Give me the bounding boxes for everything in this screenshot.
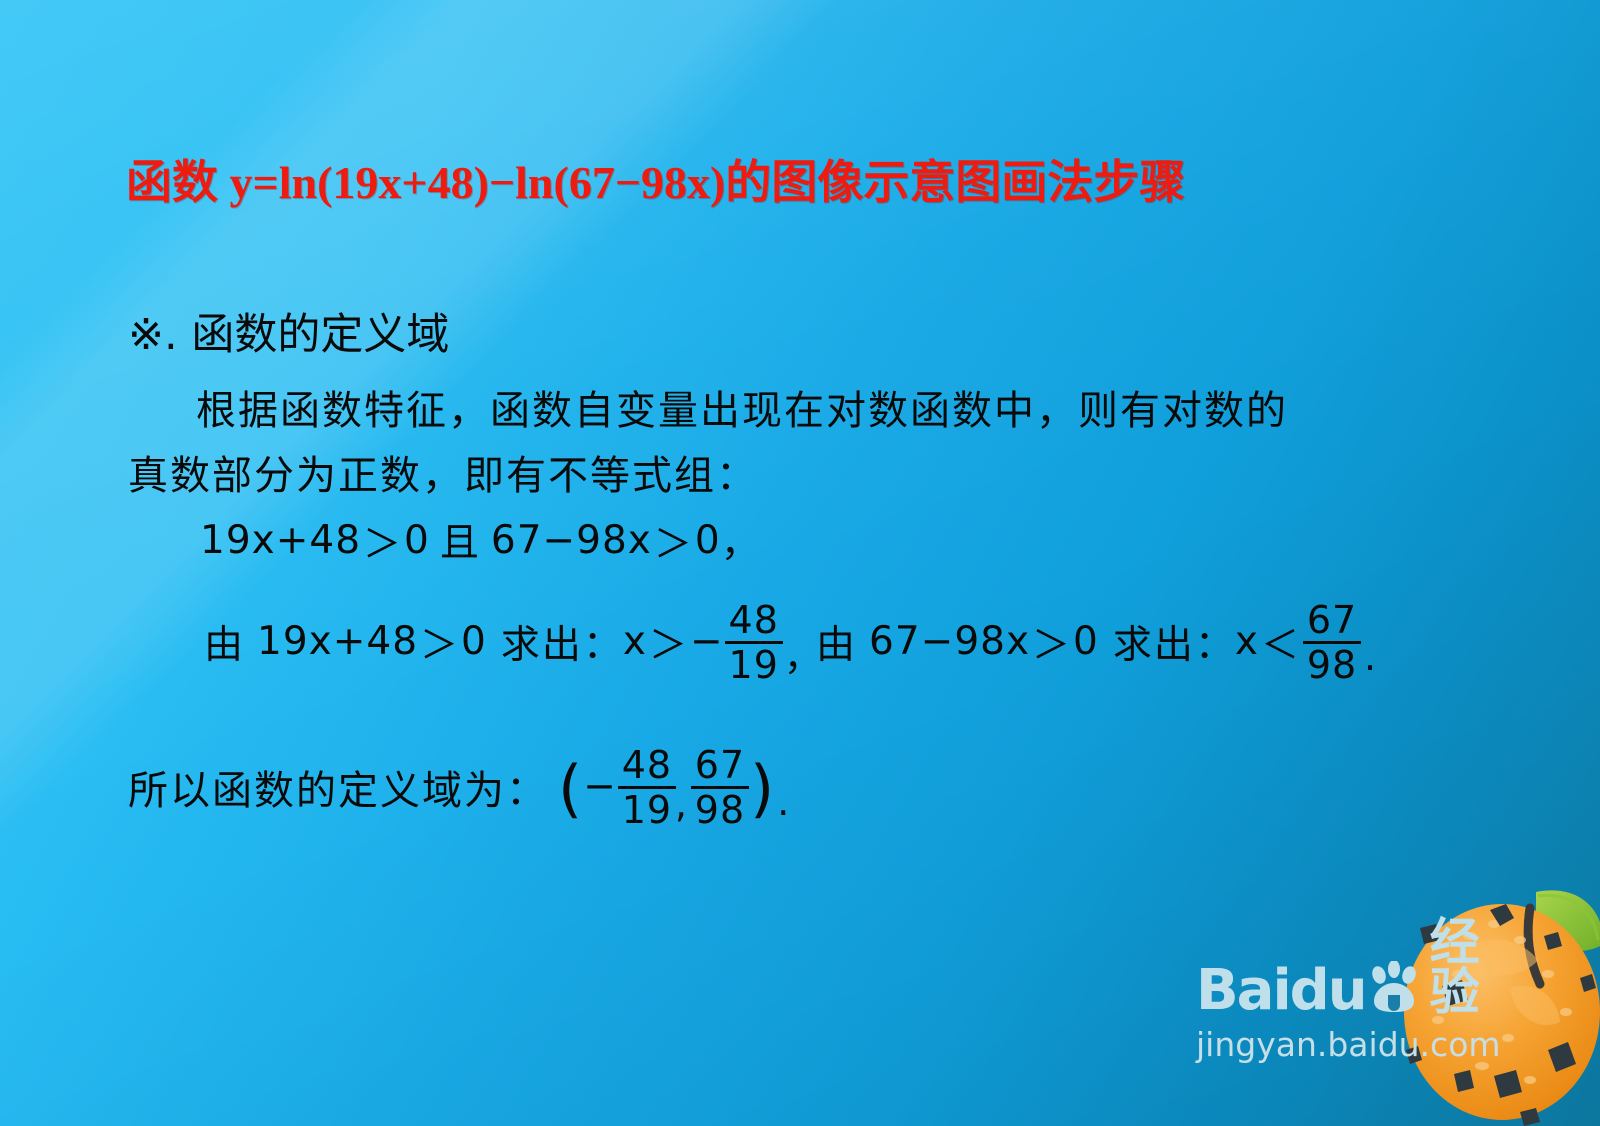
math3-verb: 求出 (1099, 614, 1195, 670)
math2-gt: ＞ (418, 614, 461, 669)
math4-colon: ： (506, 758, 548, 816)
math-line-domain-conclusion: 所以函数的定义域为 ： ( − 48 19 , 67 98 ) . (128, 745, 788, 828)
math-line-solve-first: 由 19x+48 ＞ 0 求出 ： x ＞ − 48 19 ， (204, 600, 824, 683)
math4-open-paren: ( (558, 764, 583, 814)
math3-var: x (1235, 619, 1259, 664)
baidu-watermark: Baidu 经验 jingyan.baidu.com (1196, 955, 1496, 1075)
baidu-watermark-url: jingyan.baidu.com (1196, 1025, 1496, 1064)
paw-print-icon (1368, 961, 1422, 1015)
math4-interval: ( − 48 19 , 67 98 ) . (548, 745, 788, 828)
math1-zero-a: 0 (404, 518, 430, 563)
math1-expr-b: 67−98x (491, 518, 652, 563)
math1-conjunction: 且 (430, 512, 491, 568)
math2-relation: ＞ (647, 614, 690, 669)
math2-fraction-denominator: 19 (726, 644, 782, 684)
math2-var: x (623, 619, 647, 664)
math3-gt: ＞ (1030, 614, 1073, 669)
math3-expr: 67−98x (857, 619, 1030, 664)
math2-verb: 求出 (487, 614, 583, 670)
math4-close-paren: ) (750, 764, 775, 814)
math4-fraction-upper-numerator: 67 (692, 746, 748, 786)
baidu-logo: Baidu 经验 (1196, 955, 1496, 1017)
math3-fraction-numerator: 67 (1304, 601, 1360, 641)
math4-trailing-period: . (777, 780, 790, 824)
math1-zero-b: 0 (695, 518, 721, 563)
math4-negative-sign: − (583, 764, 617, 809)
math3-colon: ： (1195, 614, 1235, 670)
math-line-inequalities: 19x+48 ＞ 0 且 67−98x ＞ 0 ， (200, 512, 762, 568)
math4-fraction-upper-denominator: 98 (692, 789, 748, 829)
paragraph-line-1: 根据函数特征，函数自变量出现在对数函数中，则有对数的 (196, 378, 1288, 436)
math3-trailing-period: . (1364, 635, 1377, 679)
baidu-jingyan-label: 经验 (1430, 917, 1496, 1017)
paragraph-line-2: 真数部分为正数，即有不等式组： (128, 443, 758, 501)
page-title: 函数 y=ln(19x+48)−ln(67−98x)的图像示意图画法步骤 (126, 146, 1185, 212)
math3-relation: ＜ (1259, 614, 1302, 669)
math4-fraction-lower-denominator: 19 (619, 789, 675, 829)
math4-interval-comma: , (675, 782, 688, 826)
math3-fraction: 67 98 (1303, 601, 1361, 684)
math4-fraction-lower: 48 19 (618, 746, 676, 829)
math-line-solve-second: 由 67−98x ＞ 0 求出 ： x ＜ 67 98 . (816, 600, 1375, 683)
math1-gt-2: ＞ (652, 513, 695, 568)
math4-fraction-upper: 67 98 (691, 746, 749, 829)
persimmon-fruit-illustration (1398, 862, 1600, 1126)
presentation-slide: 函数 y=ln(19x+48)−ln(67−98x)的图像示意图画法步骤 ※. … (0, 0, 1600, 1126)
math3-fraction-denominator: 98 (1304, 644, 1360, 684)
math2-negative-sign: − (690, 619, 724, 664)
math2-expr: 19x+48 (245, 619, 418, 664)
math2-colon: ： (583, 614, 623, 670)
math2-lead: 由 (204, 614, 245, 670)
math1-gt-1: ＞ (361, 513, 404, 568)
section-heading: ※. 函数的定义域 (128, 300, 449, 362)
baidu-wordmark: Baidu (1196, 964, 1366, 1017)
math2-fraction-numerator: 48 (726, 601, 782, 641)
math1-expr-a: 19x+48 (200, 518, 361, 563)
math3-zero: 0 (1073, 619, 1099, 664)
math1-trailing-comma: ， (721, 512, 762, 568)
math3-lead: 由 (816, 614, 857, 670)
math2-zero: 0 (461, 619, 487, 664)
math4-fraction-lower-numerator: 48 (619, 746, 675, 786)
math4-lead: 所以函数的定义域为 (128, 758, 506, 816)
math2-fraction: 48 19 (725, 601, 783, 684)
